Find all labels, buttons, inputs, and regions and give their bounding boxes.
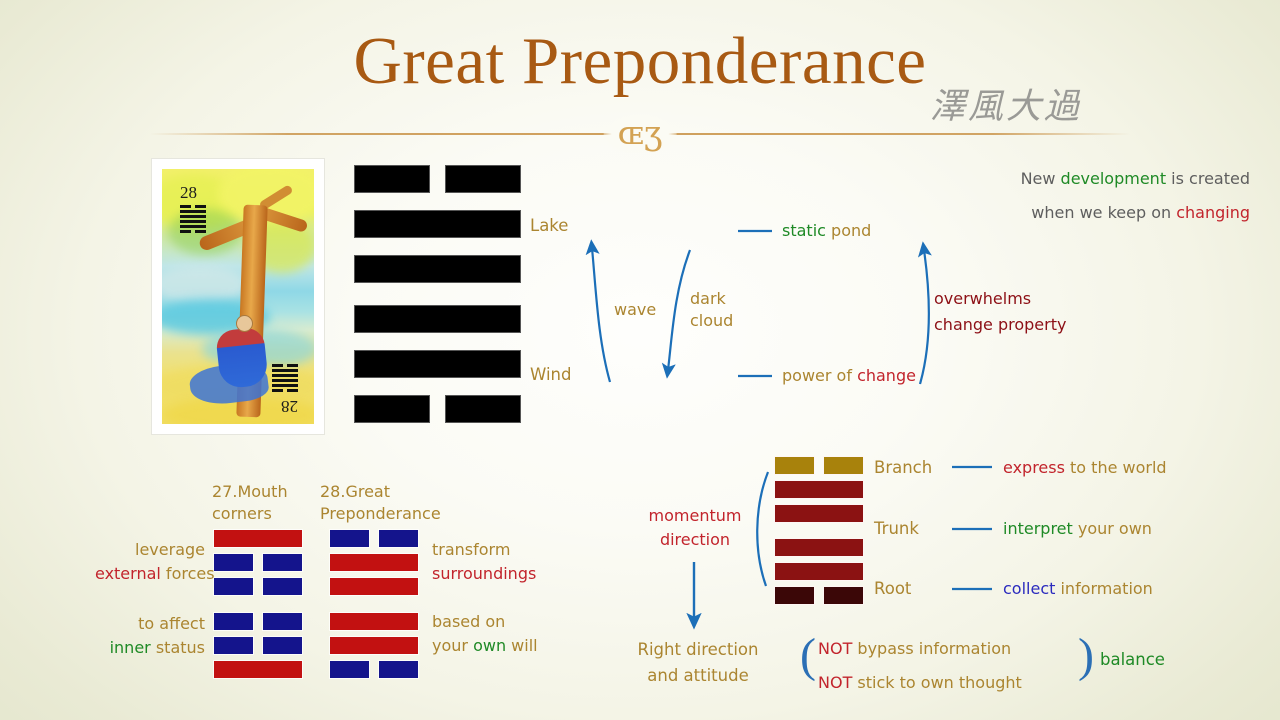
- label-momentum: momentum: [640, 504, 750, 528]
- card-mini-hexagram-top: [180, 205, 206, 235]
- label-static: static: [782, 221, 826, 240]
- label-dark-cloud-line2: cloud: [690, 310, 733, 332]
- btr-line-2: [775, 563, 863, 580]
- label-and-attitude: and attitude: [620, 663, 776, 689]
- hex28-line-3: [330, 613, 418, 630]
- note-status: status: [151, 638, 205, 657]
- title-block: Great Preponderance: [0, 28, 1280, 95]
- arrow-dark-cloud: [668, 250, 690, 370]
- branch-trunk-root-hexagram: [775, 457, 863, 611]
- label-change: change: [857, 366, 916, 385]
- not-1-text: bypass information: [852, 639, 1011, 658]
- hex28-line-5: [330, 554, 418, 571]
- label-power-of-change: power of change: [782, 366, 916, 385]
- hexagram-line-4: [355, 256, 520, 282]
- not-line-1: NOT bypass information: [818, 632, 1022, 666]
- hex27-line-1: [214, 661, 302, 678]
- text-collect-information: collect information: [1003, 579, 1153, 598]
- note-inner: inner: [110, 638, 151, 657]
- btr-line-6: [775, 457, 863, 474]
- card-mini-hexagram-bottom: [272, 362, 298, 392]
- note-inner-status: inner status: [80, 636, 205, 660]
- comparison-title-28: 28.Great Preponderance: [320, 481, 441, 525]
- paren-right: ): [1078, 628, 1094, 683]
- hexagram-line-6: [355, 166, 520, 192]
- comparison-title-28-line1: 28.Great: [320, 481, 441, 503]
- note-transform: transform: [432, 538, 536, 562]
- hexagram-label-wind: Wind: [530, 365, 571, 384]
- note-own: own: [473, 636, 506, 655]
- statement-when-we-keep-on: when we keep on: [1031, 203, 1176, 222]
- note-your: your: [432, 636, 473, 655]
- note-leverage: leverage: [95, 538, 205, 562]
- btr-line-1: [775, 587, 863, 604]
- hex28-line-4: [330, 578, 418, 595]
- comparison-title-27-line2: corners: [212, 503, 288, 525]
- comparison-title-27-line1: 27.Mouth: [212, 481, 288, 503]
- card-number-bottom: 28: [281, 396, 298, 416]
- label-dark-cloud-line1: dark: [690, 288, 733, 310]
- label-root: Root: [874, 579, 911, 598]
- note-external-forces: external forces: [95, 562, 205, 586]
- note-forces: forces: [161, 564, 215, 583]
- note-will: will: [506, 636, 538, 655]
- brace-momentum: [757, 472, 768, 586]
- statement-is-created: is created: [1166, 169, 1250, 188]
- label-overwhelms-line2: change property: [934, 312, 1066, 338]
- label-balance: balance: [1100, 650, 1165, 669]
- label-right-direction: Right direction: [620, 637, 776, 663]
- hexagram-card: 28 28: [152, 159, 324, 434]
- text-interpret: interpret: [1003, 519, 1073, 538]
- hexagram-line-2: [355, 351, 520, 377]
- text-express-to-the-world: express to the world: [1003, 458, 1167, 477]
- comparison-hexagram-27: [214, 530, 302, 685]
- label-power-of: power of: [782, 366, 852, 385]
- not-line-2: NOT stick to own thought: [818, 666, 1022, 700]
- hexagram-line-3: [355, 306, 520, 332]
- btr-line-5: [775, 481, 863, 498]
- btr-line-3: [775, 539, 863, 556]
- paren-left: (: [800, 628, 816, 683]
- top-right-statement: New development is created when we keep …: [930, 162, 1250, 230]
- statement-new: New: [1021, 169, 1061, 188]
- hex27-line-3: [214, 613, 302, 630]
- hexagram-label-lake: Lake: [530, 216, 568, 235]
- label-dark-cloud: dark cloud: [690, 288, 733, 332]
- main-hexagram: [355, 166, 520, 441]
- note-leverage-external-forces: leverage external forces: [95, 538, 205, 586]
- note-your-own-will: your own will: [432, 634, 538, 658]
- figure-head: [236, 315, 253, 332]
- comparison-hexagram-28: [330, 530, 418, 685]
- note-based-on: based on: [432, 610, 538, 634]
- statement-line-2: when we keep on changing: [930, 196, 1250, 230]
- hexagram-line-1: [355, 396, 520, 422]
- label-pond: pond: [831, 221, 871, 240]
- title-divider: ɶʒ: [150, 122, 1130, 148]
- note-to-affect: to affect: [80, 612, 205, 636]
- hex27-line-6: [214, 530, 302, 547]
- text-interpret-your-own: interpret your own: [1003, 519, 1152, 538]
- label-branch: Branch: [874, 458, 932, 477]
- not-1-keyword: NOT: [818, 639, 852, 658]
- label-wave: wave: [614, 300, 656, 319]
- statement-development: development: [1061, 169, 1167, 188]
- comparison-title-27: 27.Mouth corners: [212, 481, 288, 525]
- label-overwhelms-line1: overwhelms: [934, 286, 1066, 312]
- label-right-direction-attitude: Right direction and attitude: [620, 637, 776, 689]
- hex27-line-4: [214, 578, 302, 595]
- not-statements: NOT bypass information NOT stick to own …: [818, 632, 1022, 700]
- card-number-top: 28: [180, 183, 197, 203]
- hex28-line-1: [330, 661, 418, 678]
- note-transform-surroundings: transform surroundings: [432, 538, 536, 586]
- label-overwhelms: overwhelms change property: [934, 286, 1066, 338]
- card-artwork: 28 28: [162, 169, 314, 424]
- label-static-pond: static pond: [782, 221, 871, 240]
- divider-ornament-icon: ɶʒ: [604, 113, 677, 153]
- hex27-line-2: [214, 637, 302, 654]
- text-information: information: [1055, 579, 1152, 598]
- note-based-on-your-own-will: based on your own will: [432, 610, 538, 658]
- hexagram-line-5: [355, 211, 520, 237]
- hex28-line-2: [330, 637, 418, 654]
- not-2-text: stick to own thought: [852, 673, 1021, 692]
- hex28-line-6: [330, 530, 418, 547]
- label-momentum-direction: momentum direction: [640, 504, 750, 552]
- statement-changing: changing: [1176, 203, 1250, 222]
- text-express: express: [1003, 458, 1065, 477]
- not-2-keyword: NOT: [818, 673, 852, 692]
- text-your-own: your own: [1073, 519, 1152, 538]
- note-surroundings: surroundings: [432, 562, 536, 586]
- comparison-title-28-line2: Preponderance: [320, 503, 441, 525]
- statement-line-1: New development is created: [930, 162, 1250, 196]
- page-title: Great Preponderance: [353, 28, 926, 95]
- text-collect: collect: [1003, 579, 1055, 598]
- note-to-affect-inner-status: to affect inner status: [80, 612, 205, 660]
- slide-canvas: Great Preponderance 澤風大過 ɶʒ 28: [0, 0, 1280, 720]
- hex27-line-5: [214, 554, 302, 571]
- arrow-wave: [592, 248, 610, 382]
- label-direction: direction: [640, 528, 750, 552]
- label-trunk: Trunk: [874, 519, 919, 538]
- note-external: external: [95, 564, 161, 583]
- btr-line-4: [775, 505, 863, 522]
- arrow-overwhelms: [920, 250, 929, 384]
- text-to-the-world: to the world: [1065, 458, 1167, 477]
